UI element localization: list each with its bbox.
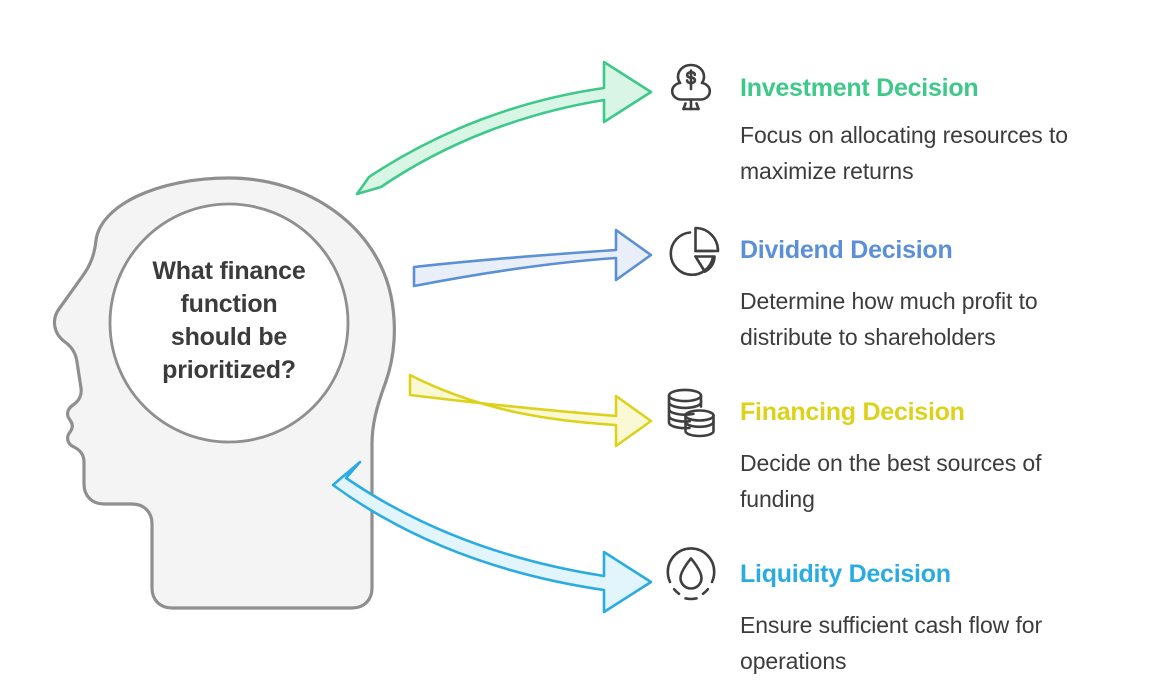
arrow-dividend-shape bbox=[414, 230, 651, 286]
branch-description-dividend: Determine how much profit to distribute … bbox=[740, 284, 1130, 356]
arrow-financing bbox=[410, 375, 651, 446]
money-tree-icon bbox=[662, 58, 720, 121]
branch-title-liquidity: Liquidity Decision bbox=[740, 560, 951, 589]
branch-description-liquidity: Ensure sufficient cash flow for operatio… bbox=[740, 608, 1120, 680]
branch-description-financing: Decide on the best sources of funding bbox=[740, 446, 1120, 518]
branch-description-investment: Focus on allocating resources to maximiz… bbox=[740, 118, 1070, 190]
diagram-canvas: What finance function should be prioriti… bbox=[0, 0, 1171, 696]
head-silhouette-group bbox=[54, 178, 394, 608]
center-question-line-1: What finance bbox=[118, 255, 340, 288]
arrow-investment bbox=[357, 62, 651, 194]
coin-stack-icon bbox=[660, 382, 722, 449]
branch-title-dividend: Dividend Decision bbox=[740, 236, 952, 265]
center-question-line-2: function bbox=[118, 288, 340, 321]
center-question-line-3: should be bbox=[118, 321, 340, 354]
branch-title-investment: Investment Decision bbox=[740, 74, 978, 103]
water-drop-icon bbox=[660, 544, 722, 611]
branch-title-financing: Financing Decision bbox=[740, 398, 965, 427]
arrow-dividend bbox=[414, 230, 651, 286]
arrow-liquidity bbox=[333, 462, 651, 612]
arrow-financing-shape bbox=[410, 375, 651, 446]
pie-chart-icon bbox=[660, 220, 722, 287]
arrow-liquidity-shape bbox=[333, 462, 651, 612]
center-question-line-4: prioritized? bbox=[118, 354, 340, 387]
center-question: What finance function should be prioriti… bbox=[118, 255, 340, 387]
arrow-investment-shape bbox=[357, 62, 651, 194]
